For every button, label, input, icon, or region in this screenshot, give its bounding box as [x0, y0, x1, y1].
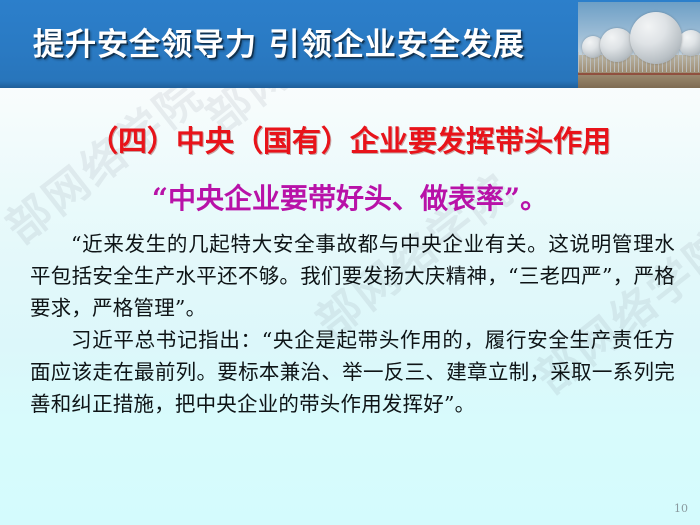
paragraph: “近来发生的几起特大安全事故都与中央企业有关。这说明管理水平包括安全生产水平还不…	[30, 228, 675, 324]
page-title: 提升安全领导力 引领企业安全发展	[33, 19, 563, 71]
tank-sphere	[600, 28, 634, 62]
tank-sphere	[630, 12, 682, 64]
slide-canvas: 部网络学院 部网络学院 部网络学院 部网络学院 部网络学院 提升安全领导力 引领…	[0, 0, 700, 525]
header-band: 提升安全领导力 引领企业安全发展	[0, 0, 700, 88]
section-subheading-purple: “中央企业要带好头、做表率”。	[0, 177, 700, 217]
storage-tank-photo	[578, 2, 700, 88]
paragraph: 习近平总书记指出：“央企是起带头作用的，履行安全生产责任方面应该走在最前列。要标…	[30, 324, 675, 420]
photo-railing	[578, 73, 700, 75]
section-heading-red: （四）中央（国有）企业要发挥带头作用	[0, 118, 700, 160]
page-number: 10	[674, 502, 688, 515]
body-text-block: “近来发生的几起特大安全事故都与中央企业有关。这说明管理水平包括安全生产水平还不…	[30, 228, 675, 420]
